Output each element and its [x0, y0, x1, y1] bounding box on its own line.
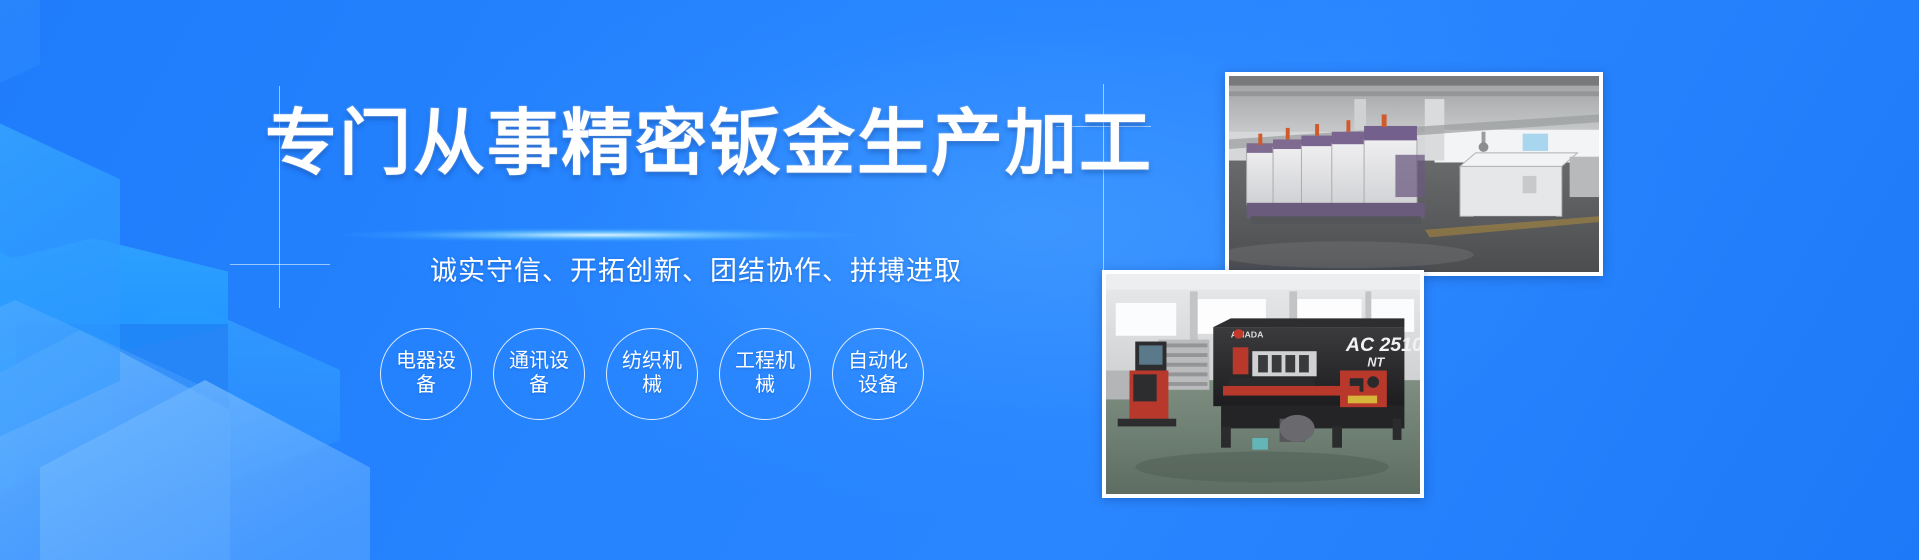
hero-banner: 专门从事精密钣金生产加工 诚实守信、开拓创新、团结协作、拼搏进取 电器设备 通讯…	[0, 0, 1919, 560]
iso-cube-right-lower-icon	[0, 300, 230, 560]
category-badge[interactable]: 工程机械	[719, 328, 811, 420]
iso-cube-lighter-icon	[40, 380, 370, 560]
iso-cube-top-icon	[0, 238, 228, 538]
factory-photo-graphic	[1229, 76, 1599, 272]
category-badge-list: 电器设备 通讯设备 纺织机械 工程机械 自动化设备	[380, 328, 924, 420]
iso-cube-light-icon	[0, 330, 230, 560]
punch-press-photo-graphic: AC 2510 NT AMADA	[1106, 274, 1420, 494]
svg-text:AC 2510: AC 2510	[1345, 334, 1420, 356]
category-badge[interactable]: 自动化设备	[832, 328, 924, 420]
iso-cube-right-main-icon	[0, 70, 120, 490]
svg-text:NT: NT	[1367, 356, 1385, 370]
iso-cube-cyan-icon	[0, 250, 112, 496]
photo-cnc-machining-center-row	[1225, 72, 1603, 276]
category-badge[interactable]: 通讯设备	[493, 328, 585, 420]
banner-headline: 专门从事精密钣金生产加工	[265, 108, 905, 180]
category-badge[interactable]: 纺织机械	[606, 328, 698, 420]
category-badge[interactable]: 电器设备	[380, 328, 472, 420]
banner-subheadline: 诚实守信、开拓创新、团结协作、拼搏进取	[430, 255, 950, 289]
light-flare-decoration	[250, 222, 950, 248]
photo-amada-turret-punch-press: AC 2510 NT AMADA	[1102, 270, 1424, 498]
iso-cube-flat-icon	[40, 300, 340, 500]
iso-cube-right-top-icon	[0, 0, 40, 150]
